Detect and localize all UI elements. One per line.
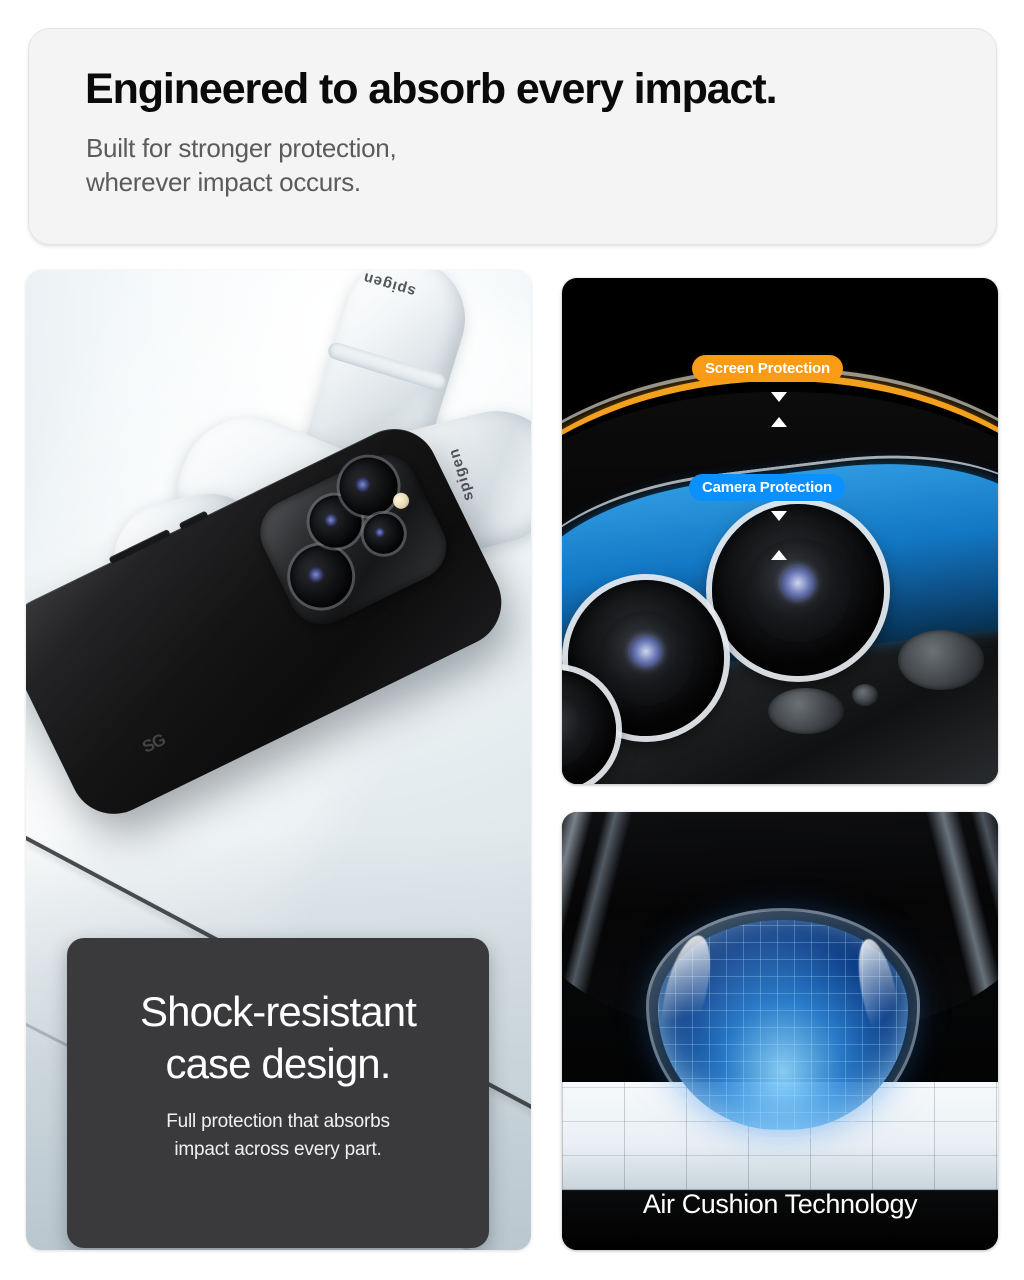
page-subtitle: Built for stronger protection, wherever … xyxy=(86,131,396,200)
camera-island xyxy=(249,444,458,636)
detail-sensor-laser xyxy=(768,688,844,734)
detail-sensor-mic xyxy=(852,684,878,706)
camera-lens-wide xyxy=(280,535,363,618)
phone-with-case: SG xyxy=(26,414,531,890)
camera-marker-down-icon xyxy=(771,511,787,521)
spigen-logo: SG xyxy=(139,730,168,758)
protection-detail-panel: Screen Protection Camera Protection xyxy=(562,278,998,784)
badge-camera-protection-label: Camera Protection xyxy=(702,479,832,496)
arm-band-upper xyxy=(326,341,448,393)
hero-image-panel: spigen spigen xyxy=(26,270,531,1250)
case-body: SG xyxy=(26,414,516,829)
product-feature-page: Engineered to absorb every impact. Built… xyxy=(0,0,1024,1280)
badge-screen-protection-label: Screen Protection xyxy=(705,360,830,377)
hero-caption-subtitle: Full protection that absorbs impact acro… xyxy=(67,1108,489,1163)
badge-camera-protection[interactable]: Camera Protection xyxy=(689,474,845,501)
camera-marker-up-icon xyxy=(771,550,787,560)
header-card: Engineered to absorb every impact. Built… xyxy=(28,28,997,245)
screen-marker-up-icon xyxy=(771,417,787,427)
badge-screen-protection[interactable]: Screen Protection xyxy=(692,355,843,382)
screen-marker-down-icon xyxy=(771,392,787,402)
hero-caption-card: Shock-resistant case design. Full protec… xyxy=(67,938,489,1248)
lens-inner-ring xyxy=(562,694,592,766)
hero-caption-title: Shock-resistant case design. xyxy=(67,986,489,1089)
air-cushion-panel: Air Cushion Technology xyxy=(562,812,998,1250)
detail-sensor-flash xyxy=(898,630,984,690)
air-cushion-caption: Air Cushion Technology xyxy=(562,1189,998,1220)
case-button-cutout xyxy=(179,510,209,529)
arm-brand-upper: spigen xyxy=(361,270,418,300)
case-button-cutout xyxy=(108,529,170,564)
lens-glint xyxy=(630,636,661,667)
detail-lens-primary xyxy=(712,504,884,676)
page-title: Engineered to absorb every impact. xyxy=(85,65,776,114)
